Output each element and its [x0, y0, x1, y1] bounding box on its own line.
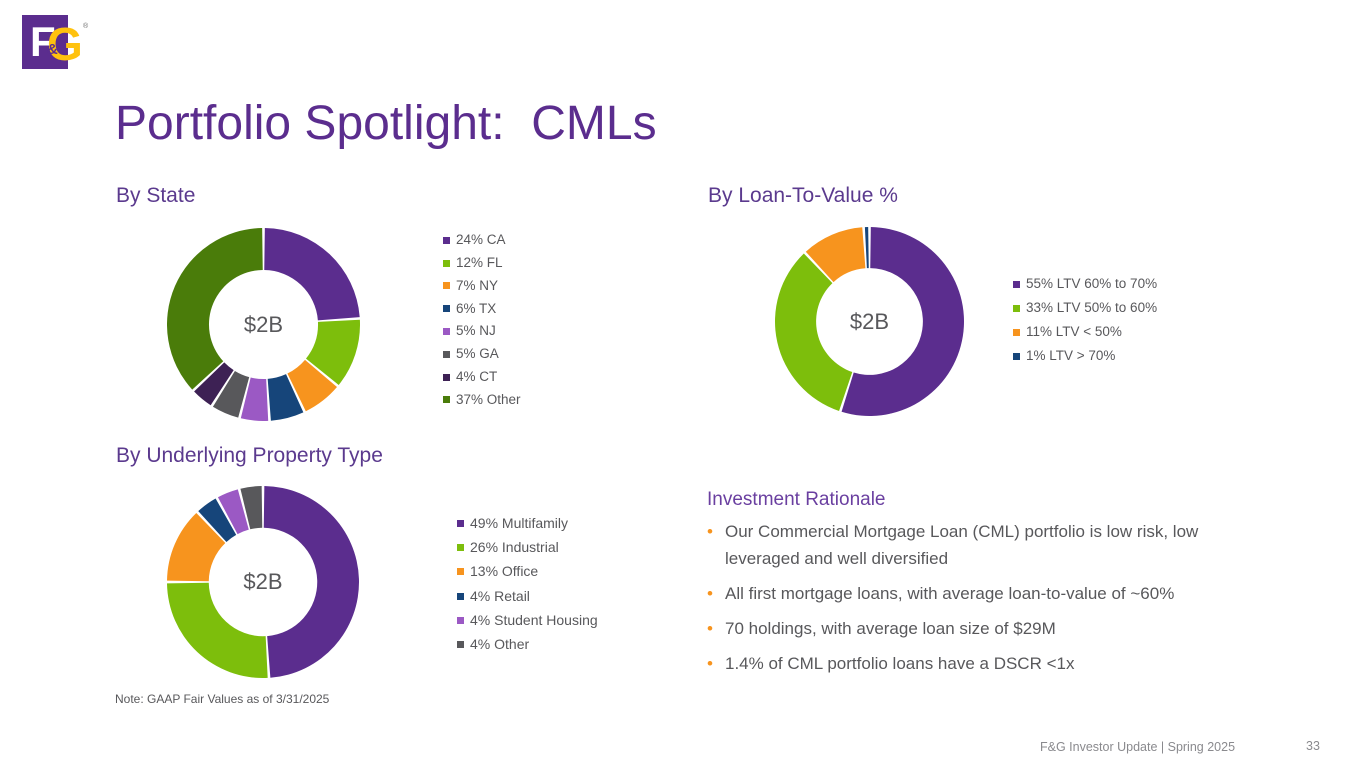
rationale-bullet-text: 70 holdings, with average loan size of $…	[725, 615, 1056, 642]
logo-ampersand: &	[47, 42, 58, 57]
rationale-bullet-text: 1.4% of CML portfolio loans have a DSCR …	[725, 650, 1074, 677]
donut-slice-industrial	[167, 583, 268, 678]
legend-label: 11% LTV < 50%	[1026, 321, 1122, 344]
fandg-logo: F G & ®	[22, 15, 90, 69]
legend-item: 6% TX	[443, 297, 521, 320]
legend-label: 24% CA	[456, 229, 506, 252]
legend-label: 4% Student Housing	[470, 609, 598, 632]
legend-item: 4% Retail	[457, 584, 598, 608]
donut-chart-by-state: $2B	[167, 228, 360, 421]
footnote: Note: GAAP Fair Values as of 3/31/2025	[115, 692, 329, 706]
slide: F G & ® Portfolio Spotlight: CMLs By Sta…	[0, 0, 1365, 768]
legend-swatch-icon	[1013, 305, 1020, 312]
bullet-dot-icon: •	[707, 615, 725, 642]
footer-text: F&G Investor Update | Spring 2025	[1040, 740, 1235, 754]
legend-label: 5% GA	[456, 343, 499, 366]
donut-slice-other	[167, 228, 263, 390]
donut-chart-by-ltv: $2B	[775, 227, 964, 416]
donut-slice-ltv-50-to-60-	[775, 254, 852, 411]
legend-swatch-icon	[457, 520, 464, 527]
donut-chart-by-property-type: $2B	[167, 486, 359, 678]
legend-swatch-icon	[457, 544, 464, 551]
rationale-bullet: •All first mortgage loans, with average …	[707, 580, 1267, 607]
investment-rationale-list: •Our Commercial Mortgage Loan (CML) port…	[707, 518, 1267, 685]
legend-swatch-icon	[443, 282, 450, 289]
legend-label: 4% CT	[456, 366, 497, 389]
legend-swatch-icon	[443, 396, 450, 403]
legend-item: 1% LTV > 70%	[1013, 344, 1157, 368]
legend-item: 5% GA	[443, 343, 521, 366]
page-title: Portfolio Spotlight: CMLs	[115, 96, 657, 151]
section-header-investment-rationale: Investment Rationale	[707, 489, 886, 511]
legend-swatch-icon	[457, 568, 464, 575]
bullet-dot-icon: •	[707, 580, 725, 607]
section-header-by-property-type: By Underlying Property Type	[116, 444, 383, 468]
legend-label: 5% NJ	[456, 320, 496, 343]
legend-swatch-icon	[1013, 329, 1020, 336]
legend-item: 11% LTV < 50%	[1013, 320, 1157, 344]
legend-label: 13% Office	[470, 560, 538, 583]
legend-by-property-type: 49% Multifamily26% Industrial13% Office4…	[457, 511, 598, 657]
registered-trademark-icon: ®	[83, 23, 88, 30]
legend-item: 49% Multifamily	[457, 511, 598, 535]
rationale-bullet: •1.4% of CML portfolio loans have a DSCR…	[707, 650, 1267, 677]
section-header-by-loan-to-value: By Loan-To-Value %	[708, 184, 898, 208]
legend-label: 7% NY	[456, 275, 498, 298]
legend-swatch-icon	[443, 328, 450, 335]
legend-swatch-icon	[1013, 353, 1020, 360]
legend-swatch-icon	[1013, 281, 1020, 288]
legend-label: 26% Industrial	[470, 536, 559, 559]
legend-label: 4% Other	[470, 633, 529, 656]
legend-item: 5% NJ	[443, 320, 521, 343]
legend-label: 33% LTV 50% to 60%	[1026, 297, 1157, 320]
legend-item: 24% CA	[443, 229, 521, 252]
donut-slice-multifamily	[264, 486, 359, 678]
legend-by-state: 24% CA12% FL7% NY6% TX5% NJ5% GA4% CT37%…	[443, 229, 521, 411]
donut-slice-ltv-70-	[865, 227, 869, 268]
legend-swatch-icon	[443, 305, 450, 312]
legend-swatch-icon	[443, 374, 450, 381]
legend-swatch-icon	[457, 617, 464, 624]
legend-item: 26% Industrial	[457, 535, 598, 559]
legend-item: 13% Office	[457, 560, 598, 584]
legend-label: 49% Multifamily	[470, 512, 568, 535]
legend-by-ltv: 55% LTV 60% to 70%33% LTV 50% to 60%11% …	[1013, 272, 1157, 368]
legend-label: 12% FL	[456, 252, 503, 275]
legend-item: 12% FL	[443, 252, 521, 275]
legend-item: 4% Other	[457, 632, 598, 656]
legend-label: 1% LTV > 70%	[1026, 345, 1115, 368]
legend-item: 7% NY	[443, 275, 521, 298]
legend-swatch-icon	[457, 593, 464, 600]
legend-item: 4% Student Housing	[457, 608, 598, 632]
section-header-by-state: By State	[116, 184, 195, 208]
rationale-bullet: •70 holdings, with average loan size of …	[707, 615, 1267, 642]
legend-swatch-icon	[443, 237, 450, 244]
legend-swatch-icon	[457, 641, 464, 648]
donut-by-property-ring	[167, 486, 359, 678]
rationale-bullet-text: Our Commercial Mortgage Loan (CML) portf…	[725, 518, 1267, 572]
legend-label: 4% Retail	[470, 585, 530, 608]
legend-item: 33% LTV 50% to 60%	[1013, 296, 1157, 320]
legend-label: 6% TX	[456, 298, 496, 321]
page-number: 33	[1306, 739, 1320, 753]
legend-swatch-icon	[443, 260, 450, 267]
legend-item: 55% LTV 60% to 70%	[1013, 272, 1157, 296]
donut-by-state-ring	[167, 228, 360, 421]
legend-item: 4% CT	[443, 366, 521, 389]
donut-slice-ca	[264, 228, 359, 320]
legend-label: 37% Other	[456, 389, 521, 412]
legend-label: 55% LTV 60% to 70%	[1026, 273, 1157, 296]
bullet-dot-icon: •	[707, 650, 725, 677]
rationale-bullet-text: All first mortgage loans, with average l…	[725, 580, 1174, 607]
legend-item: 37% Other	[443, 389, 521, 412]
rationale-bullet: •Our Commercial Mortgage Loan (CML) port…	[707, 518, 1267, 572]
bullet-dot-icon: •	[707, 518, 725, 545]
donut-by-ltv-ring	[775, 227, 964, 416]
legend-swatch-icon	[443, 351, 450, 358]
